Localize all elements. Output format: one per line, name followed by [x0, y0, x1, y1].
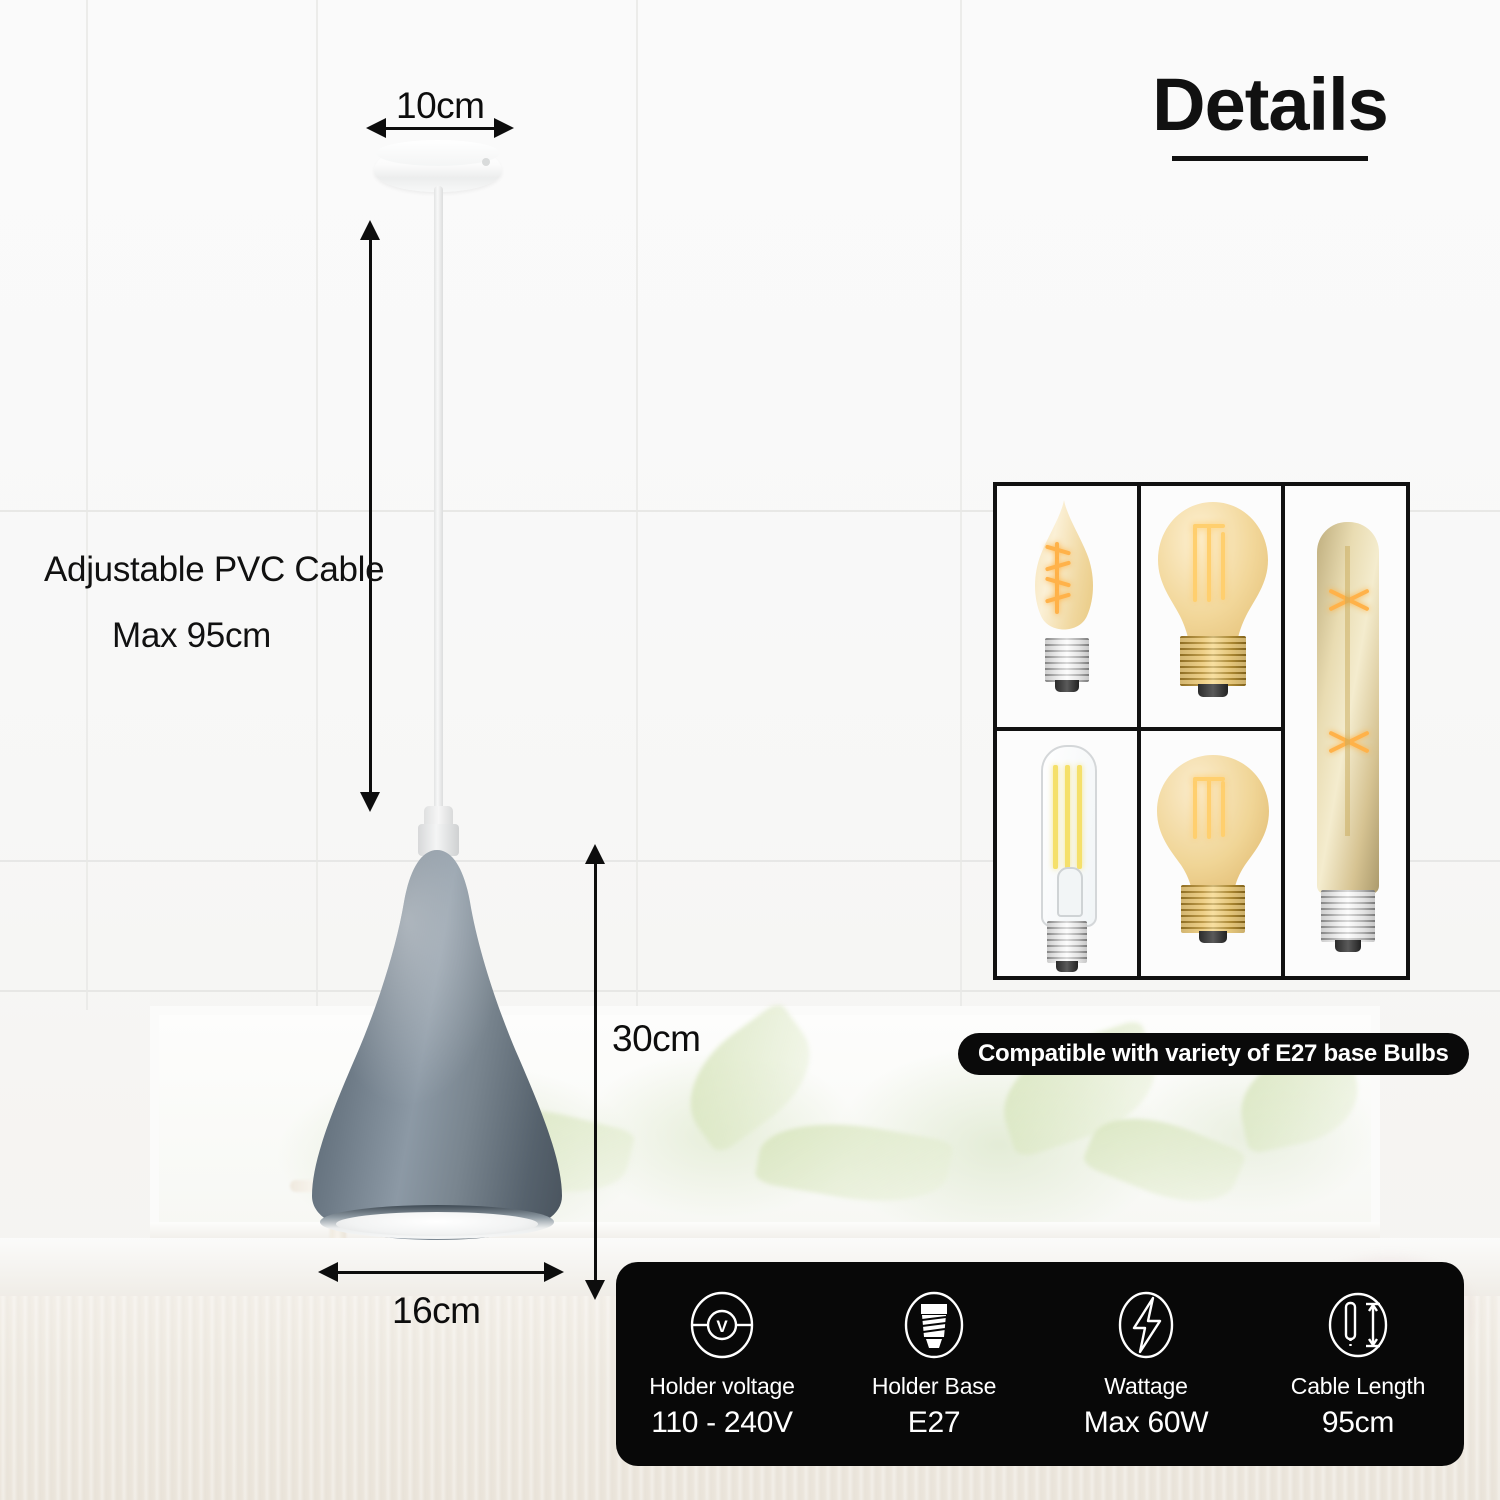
bulb-filament — [1207, 779, 1211, 839]
bulb-filament — [1053, 765, 1058, 869]
wall-seam — [960, 0, 962, 1010]
spec-item-holder-base: Holder Base E27 — [828, 1286, 1040, 1442]
bulb-stem-housing — [1057, 867, 1083, 917]
bulb-cell-candle-flame-tip-bulb — [997, 486, 1141, 727]
canopy-width-line — [382, 127, 500, 130]
canopy-width-label: 10cm — [396, 85, 484, 127]
bulb-filament-stem — [1345, 546, 1350, 836]
bulb-filament — [1221, 532, 1225, 600]
bulb-filament — [1193, 779, 1197, 839]
svg-text:V: V — [716, 1317, 728, 1336]
cable-length-arrow-down-icon — [360, 792, 380, 812]
bulb-filament — [1193, 526, 1197, 602]
bulb-cell-g25-globe-amber-bulb — [1141, 731, 1281, 976]
ceiling-rose-screw — [482, 158, 490, 166]
spec-label: Holder voltage — [616, 1372, 828, 1401]
bulb-e27-base — [1321, 890, 1375, 942]
cable-note-line-1: Adjustable PVC Cable — [44, 536, 384, 604]
shade-height-line — [594, 862, 597, 1282]
pvc-cable — [434, 186, 443, 816]
bulb-grid-row-bottom — [997, 731, 1281, 976]
voltmeter-icon: V — [616, 1286, 828, 1364]
bulb-base-tip — [1056, 961, 1078, 972]
lightning-bolt-icon — [1040, 1286, 1252, 1364]
bulb-e27-base — [1045, 638, 1089, 682]
wall-panel-line — [0, 990, 1500, 992]
bulb-filament — [1221, 781, 1225, 837]
bulb-e27-base — [1181, 885, 1245, 933]
bulb-base-tip — [1335, 940, 1361, 952]
bulb-base-tip — [1055, 680, 1079, 692]
cable-note-line-2: Max 95cm — [112, 602, 271, 670]
bulb-grid-row-top — [997, 486, 1281, 731]
shade-width-arrow-left-icon — [318, 1262, 338, 1282]
page-title: Details — [1140, 68, 1400, 142]
spec-value: 95cm — [1252, 1403, 1464, 1442]
bulb-glass — [1033, 500, 1095, 640]
canopy-width-arrow-left-icon — [366, 118, 386, 138]
spec-item-cable-length: Cable Length 95cm — [1252, 1286, 1464, 1442]
bulb-filament — [1077, 765, 1082, 869]
bulb-base-tip — [1199, 931, 1227, 943]
shade-width-arrow-right-icon — [544, 1262, 564, 1282]
bulb-filament-bridge — [1193, 777, 1225, 781]
bulb-cell-a19-amber-bulb — [1141, 486, 1281, 727]
title-underline — [1172, 156, 1368, 161]
compatible-bulbs-grid — [993, 482, 1410, 980]
specification-bar: V Holder voltage 110 - 240V Holder Base — [616, 1262, 1464, 1466]
bulb-e27-base — [1180, 636, 1246, 686]
spec-item-holder-voltage: V Holder voltage 110 - 240V — [616, 1286, 828, 1442]
shade-height-arrow-down-icon — [585, 1280, 605, 1300]
plant-leaf — [754, 1109, 954, 1215]
spec-label: Holder Base — [828, 1372, 1040, 1401]
bulb-base-icon — [828, 1286, 1040, 1364]
canopy-width-arrow-right-icon — [494, 118, 514, 138]
spec-label: Wattage — [1040, 1372, 1252, 1401]
spec-value: 110 - 240V — [616, 1403, 828, 1442]
bulb-filament — [1207, 526, 1211, 602]
spec-item-wattage: Wattage Max 60W — [1040, 1286, 1252, 1442]
cable-measure-icon — [1252, 1286, 1464, 1364]
bulb-e27-base — [1047, 921, 1087, 963]
spec-value: Max 60W — [1040, 1403, 1252, 1442]
bulb-cell-long-tube-amber-bulb — [1285, 486, 1406, 976]
spec-value: E27 — [828, 1403, 1040, 1442]
shade-height-arrow-up-icon — [585, 844, 605, 864]
wall-seam — [86, 0, 88, 1010]
bulb-grid-left-columns — [997, 486, 1285, 976]
wall-seam — [636, 0, 638, 1010]
compatible-bulbs-banner: Compatible with variety of E27 base Bulb… — [958, 1033, 1469, 1075]
bulb-cell-t-tube-clear-bulb — [997, 731, 1141, 976]
shade-width-line — [334, 1271, 550, 1274]
shade-width-label: 16cm — [392, 1290, 480, 1332]
bulb-base-tip — [1198, 684, 1228, 697]
product-detail-infographic: Details 10cm Adjustable PVC Cable Max 95… — [0, 0, 1500, 1500]
bulb-glass — [1158, 502, 1268, 638]
cable-length-arrow-up-icon — [360, 220, 380, 240]
bulb-filament-stem — [1055, 542, 1059, 614]
shade-height-label: 30cm — [612, 1018, 700, 1060]
bulb-glass — [1157, 755, 1269, 887]
wall-seam — [316, 0, 318, 1010]
details-heading: Details — [1140, 68, 1400, 161]
spec-label: Cable Length — [1252, 1372, 1464, 1401]
lamp-shade-inner — [336, 1212, 538, 1236]
cable-length-line — [369, 238, 372, 794]
bulb-filament-bridge — [1193, 524, 1225, 528]
bulb-filament — [1065, 765, 1070, 869]
